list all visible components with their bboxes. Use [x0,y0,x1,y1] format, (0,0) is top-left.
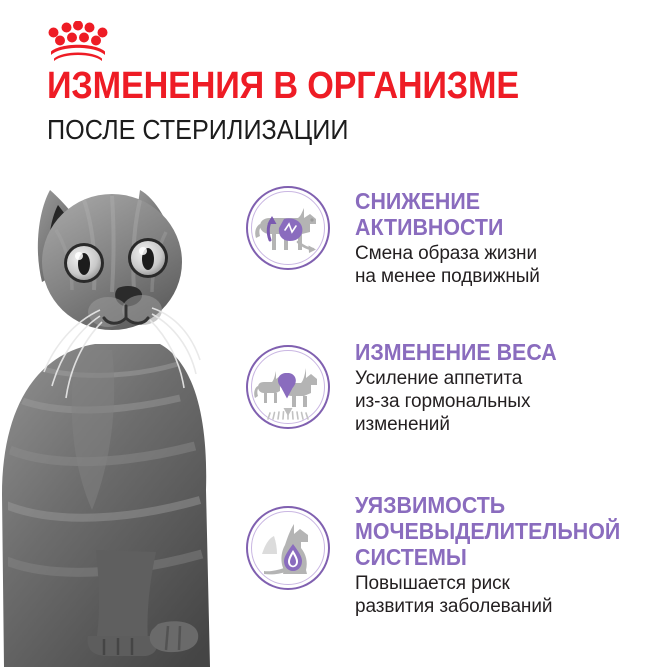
feature-item-weight: ИЗМЕНЕНИЕ ВЕСА Усиление аппетита из-за г… [246,345,572,436]
header-block: ИЗМЕНЕНИЯ В ОРГАНИЗМЕ ПОСЛЕ СТЕРИЛИЗАЦИИ [47,66,647,146]
feature-text-urinary: УЯЗВИМОСТЬ МОЧЕВЫДЕЛИТЕЛЬНОЙ СИСТЕМЫ Пов… [355,492,640,618]
royal-canin-crown-logo [47,21,109,61]
feature-item-activity: СНИЖЕНИЕ АКТИВНОСТИ Смена образа жизни н… [246,186,540,288]
feature-title: ИЗМЕНЕНИЕ ВЕСА [355,339,557,365]
page-subtitle: ПОСЛЕ СТЕРИЛИЗАЦИИ [47,114,587,146]
feature-description: Повышается риск развития заболеваний [355,572,640,618]
feature-description: Смена образа жизни на менее подвижный [355,242,540,288]
cat-urinary-droplet-icon [246,506,332,592]
feature-text-weight: ИЗМЕНЕНИЕ ВЕСА Усиление аппетита из-за г… [355,339,572,436]
feature-text-activity: СНИЖЕНИЕ АКТИВНОСТИ Смена образа жизни н… [355,186,540,288]
feature-title: УЯЗВИМОСТЬ МОЧЕВЫДЕЛИТЕЛЬНОЙ СИСТЕМЫ [355,492,620,570]
page-title: ИЗМЕНЕНИЯ В ОРГАНИЗМЕ [47,66,587,106]
grey-cat-photo [0,150,240,667]
cat-weight-scale-icon [246,345,332,431]
feature-description: Усиление аппетита из-за гормональных изм… [355,367,572,436]
infographic-page: ИЗМЕНЕНИЯ В ОРГАНИЗМЕ ПОСЛЕ СТЕРИЛИЗАЦИИ [0,0,667,667]
feature-item-urinary: УЯЗВИМОСТЬ МОЧЕВЫДЕЛИТЕЛЬНОЙ СИСТЕМЫ Пов… [246,506,640,618]
cat-activity-icon [246,186,332,272]
feature-title: СНИЖЕНИЕ АКТИВНОСТИ [355,188,527,240]
